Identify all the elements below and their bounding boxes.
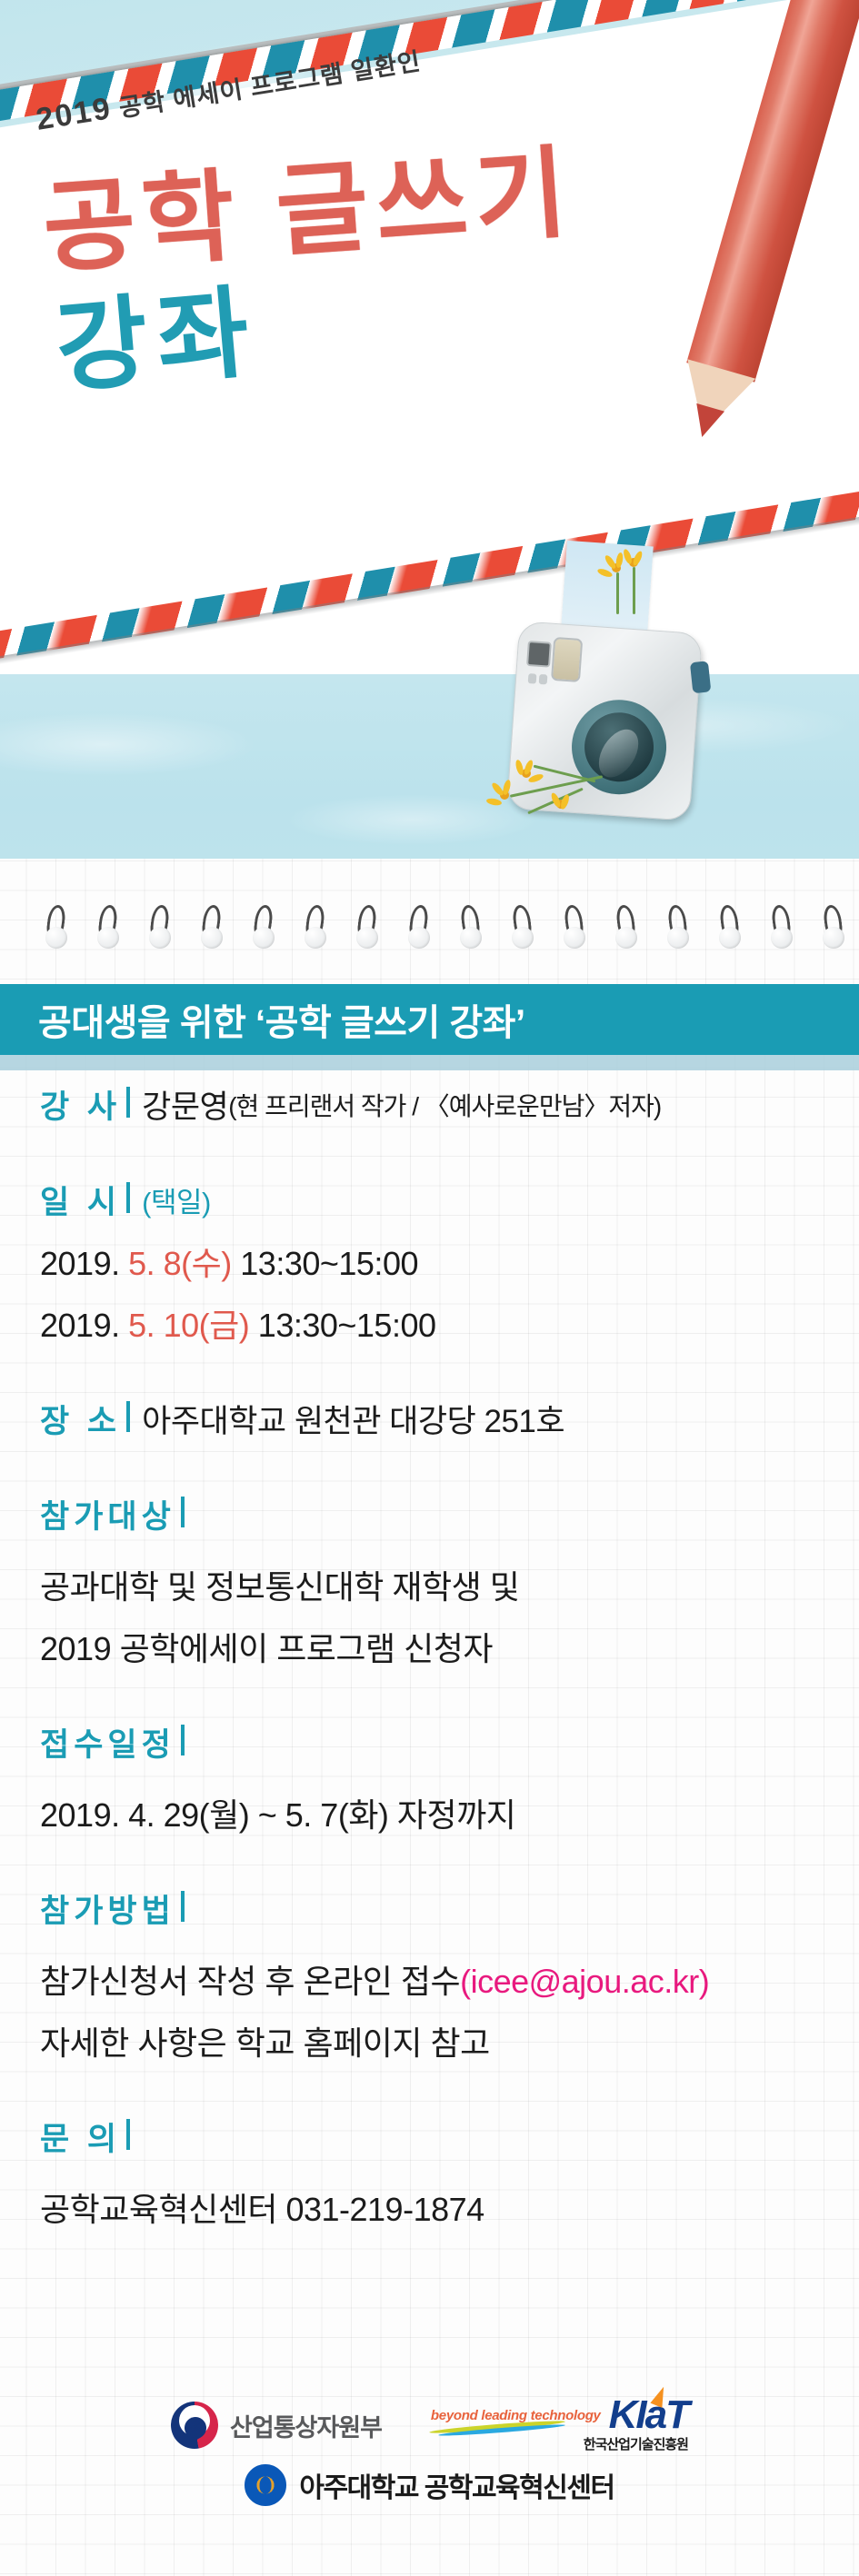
kiat-wordmark-text: KIaT [609,2392,688,2437]
method-line-1: 참가신청서 작성 후 온라인 접수(icee@ajou.ac.kr) [0,1955,859,2003]
spiral-ring [773,905,789,945]
session-1-time: 13:30~15:00 [240,1245,418,1282]
ajou-seal-icon [245,2464,286,2506]
method-email[interactable]: (icee@ajou.ac.kr) [460,1963,709,2000]
divider-bar [126,1087,130,1118]
spiral-ring [358,905,375,945]
method-text-prefix: 참가신청서 작성 후 온라인 접수 [40,1963,460,2000]
session-2-date: 5. 10(금) [128,1307,249,1344]
flower-sprig-bottom [473,752,664,843]
detail-row-place: 장 소아주대학교 원천관 대강당 251호 [0,1396,859,1442]
detail-row-audience: 참가대상 [0,1491,859,1537]
spiral-ring [514,905,530,945]
divider-bar [181,1725,185,1755]
audience-line-1: 공과대학 및 정보통신대학 재학생 및 [0,1561,859,1608]
spiral-ring [721,905,737,945]
schedule-line-1: 2019. 4. 29(월) ~ 5. 7(화) 자정까지 [0,1789,859,1836]
detail-row-contact: 문 의 [0,2114,859,2160]
value-instructor-name: 강문영 [142,1081,228,1128]
label-method: 참가방법 [40,1885,175,1932]
ajou-label: 아주대학교 공학교육혁신센터 [299,2465,614,2505]
details-list: 강 사강문영(현 프리랜서 작가 / 〈예사로운만남〉저자) 일 시(택일) 2… [0,1081,859,2231]
label-place: 장 소 [40,1396,121,1442]
contact-line-1: 공학교육혁신센터 031-219-1874 [0,2183,859,2231]
value-datetime-note: (택일) [142,1179,211,1220]
audience-text-2: 2019 공학에세이 프로그램 신청자 [40,1630,493,1667]
session-2-time: 13:30~15:00 [258,1307,436,1344]
poster-root: 2019 공학 에세이 프로그램 일환인 공학 글쓰기 강좌 [0,0,859,2576]
label-instructor: 강 사 [40,1081,121,1128]
contact-text: 공학교육혁신센터 031-219-1874 [40,2191,484,2228]
kiat-subtitle: 한국산업기술진흥원 [584,2434,688,2453]
label-schedule: 접수일정 [40,1719,175,1765]
header-underbar [0,1055,859,1070]
divider-bar [126,2119,130,2150]
spiral-ring [47,905,64,945]
spiral-ring [410,905,426,945]
divider-bar [126,1401,130,1432]
spiral-ring [617,905,634,945]
label-contact: 문 의 [40,2114,121,2160]
audience-line-2: 2019 공학에세이 프로그램 신청자 [0,1623,859,1670]
divider-bar [126,1182,130,1213]
spiral-ring [565,905,582,945]
method-text-2: 자세한 사항은 학교 홈페이지 참고 [40,2024,490,2062]
section-header-bar: 공대생을 위한 ‘공학 글쓰기 강좌’ [0,984,859,1055]
sponsor-logo-row-1: 산업통상자원부 beyond leading technology KIaT 한… [0,2397,859,2453]
taegeuk-icon [171,2402,218,2449]
spiral-ring [255,905,271,945]
divider-bar [181,1497,185,1527]
spiral-ring [99,905,115,945]
detail-row-schedule: 접수일정 [0,1719,859,1765]
spiral-ring [203,905,219,945]
spiral-ring [669,905,685,945]
detail-row-method: 참가방법 [0,1885,859,1932]
divider-bar [181,1891,185,1922]
detail-row-datetime: 일 시(택일) [0,1177,859,1223]
kiat-logo: beyond leading technology KIaT 한국산업기술진흥원 [431,2397,688,2453]
kiat-wordmark: KIaT [609,2397,688,2433]
flower-sprig-top [582,542,691,632]
spiral-ring [462,905,478,945]
sponsor-logo-row-2: 아주대학교 공학교육혁신센터 [0,2464,859,2506]
spiral-ring [151,905,167,945]
kiat-tagline: beyond leading technology [431,2408,601,2433]
value-instructor-note: (현 프리랜서 작가 / 〈예사로운만남〉저자) [228,1087,661,1123]
page-title: 공대생을 위한 ‘공학 글쓰기 강좌’ [0,993,525,1046]
label-datetime: 일 시 [40,1177,121,1223]
hero-illustration: 2019 공학 에세이 프로그램 일환인 공학 글쓰기 강좌 [0,0,859,909]
hero-title-line2: 강좌 [52,283,262,400]
sponsor-footer: 산업통상자원부 beyond leading technology KIaT 한… [0,2390,859,2576]
spiral-ring [824,905,841,945]
spiral-binding [0,909,859,967]
label-audience: 참가대상 [40,1491,175,1537]
session-1-year: 2019. [40,1245,120,1282]
schedule-text-1: 2019. 4. 29(월) ~ 5. 7(화) 자정까지 [40,1796,515,1834]
motie-label: 산업통상자원부 [230,2408,382,2443]
method-line-2: 자세한 사항은 학교 홈페이지 참고 [0,2017,859,2064]
audience-text-1: 공과대학 및 정보통신대학 재학생 및 [40,1568,519,1606]
motie-logo: 산업통상자원부 [171,2402,382,2449]
session-1-date: 5. 8(수) [128,1245,232,1282]
value-place: 아주대학교 원천관 대강당 251호 [142,1396,564,1442]
session-2: 2019. 5. 10(금) 13:30~15:00 [0,1299,859,1347]
spiral-ring [306,905,323,945]
detail-row-instructor: 강 사강문영(현 프리랜서 작가 / 〈예사로운만남〉저자) [0,1081,859,1128]
session-2-year: 2019. [40,1307,120,1344]
session-1: 2019. 5. 8(수) 13:30~15:00 [0,1238,859,1285]
